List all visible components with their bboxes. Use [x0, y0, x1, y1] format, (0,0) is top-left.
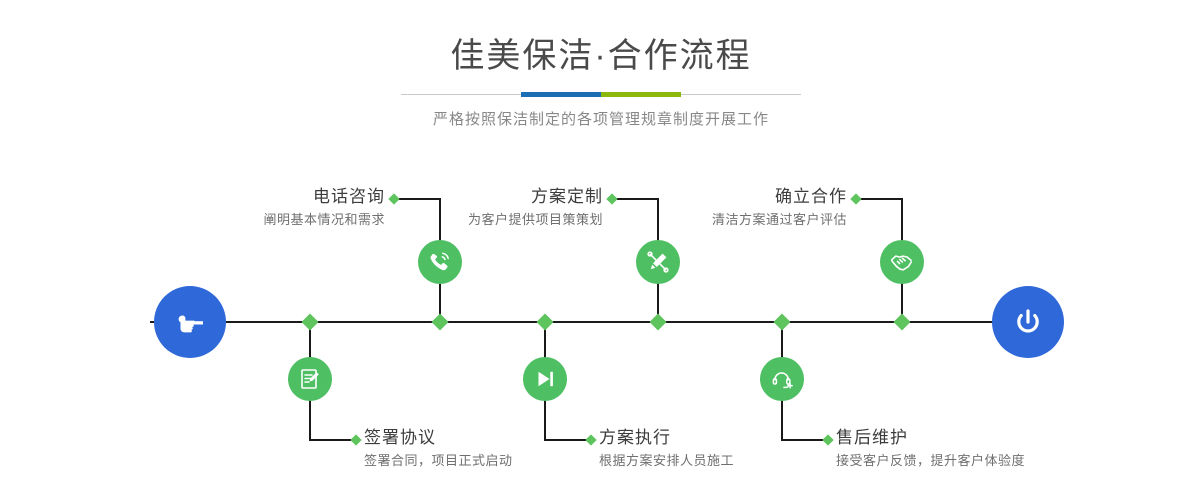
infographic-canvas: 佳美保洁·合作流程 严格按照保洁制定的各项管理规章制度开展工作	[0, 0, 1202, 502]
timeline-axis	[150, 321, 1052, 323]
document-edit-icon	[288, 357, 332, 401]
power-icon	[1008, 302, 1048, 342]
step-title-6: 售后维护	[836, 427, 1202, 449]
step-diamond-1	[432, 314, 449, 331]
step-arm-6	[781, 439, 827, 441]
step-arm-5	[857, 198, 903, 200]
title-divider	[401, 90, 801, 100]
step-diamond-3	[650, 314, 667, 331]
pointing-hand-icon	[170, 302, 210, 342]
step-title-5: 确立合作	[452, 186, 847, 208]
step-diamond-2	[302, 314, 319, 331]
divider-blue-segment	[521, 92, 601, 97]
pencil-ruler-icon	[636, 240, 680, 284]
phone-call-icon	[418, 240, 462, 284]
step-arm-4	[544, 439, 590, 441]
step-desc-6: 接受客户反馈，提升客户体验度	[836, 451, 1202, 471]
step-bullet-2	[350, 434, 361, 445]
page-subtitle: 严格按照保洁制定的各项管理规章制度开展工作	[0, 110, 1202, 130]
step-diamond-4	[537, 314, 554, 331]
step-diamond-5	[894, 314, 911, 331]
play-skip-icon	[523, 357, 567, 401]
step-label-5: 确立合作 清洁方案通过客户评估	[452, 186, 847, 230]
start-node	[154, 286, 226, 358]
headset-support-icon	[760, 357, 804, 401]
step-label-6: 售后维护 接受客户反馈，提升客户体验度	[836, 427, 1202, 471]
page-title: 佳美保洁·合作流程	[0, 36, 1202, 76]
header: 佳美保洁·合作流程 严格按照保洁制定的各项管理规章制度开展工作	[0, 0, 1202, 130]
step-arm-2	[309, 439, 355, 441]
step-desc-5: 清洁方案通过客户评估	[452, 210, 847, 230]
end-node	[992, 286, 1064, 358]
divider-green-segment	[601, 92, 681, 97]
step-diamond-6	[774, 314, 791, 331]
handshake-icon	[880, 240, 924, 284]
step-bullet-5	[850, 193, 861, 204]
